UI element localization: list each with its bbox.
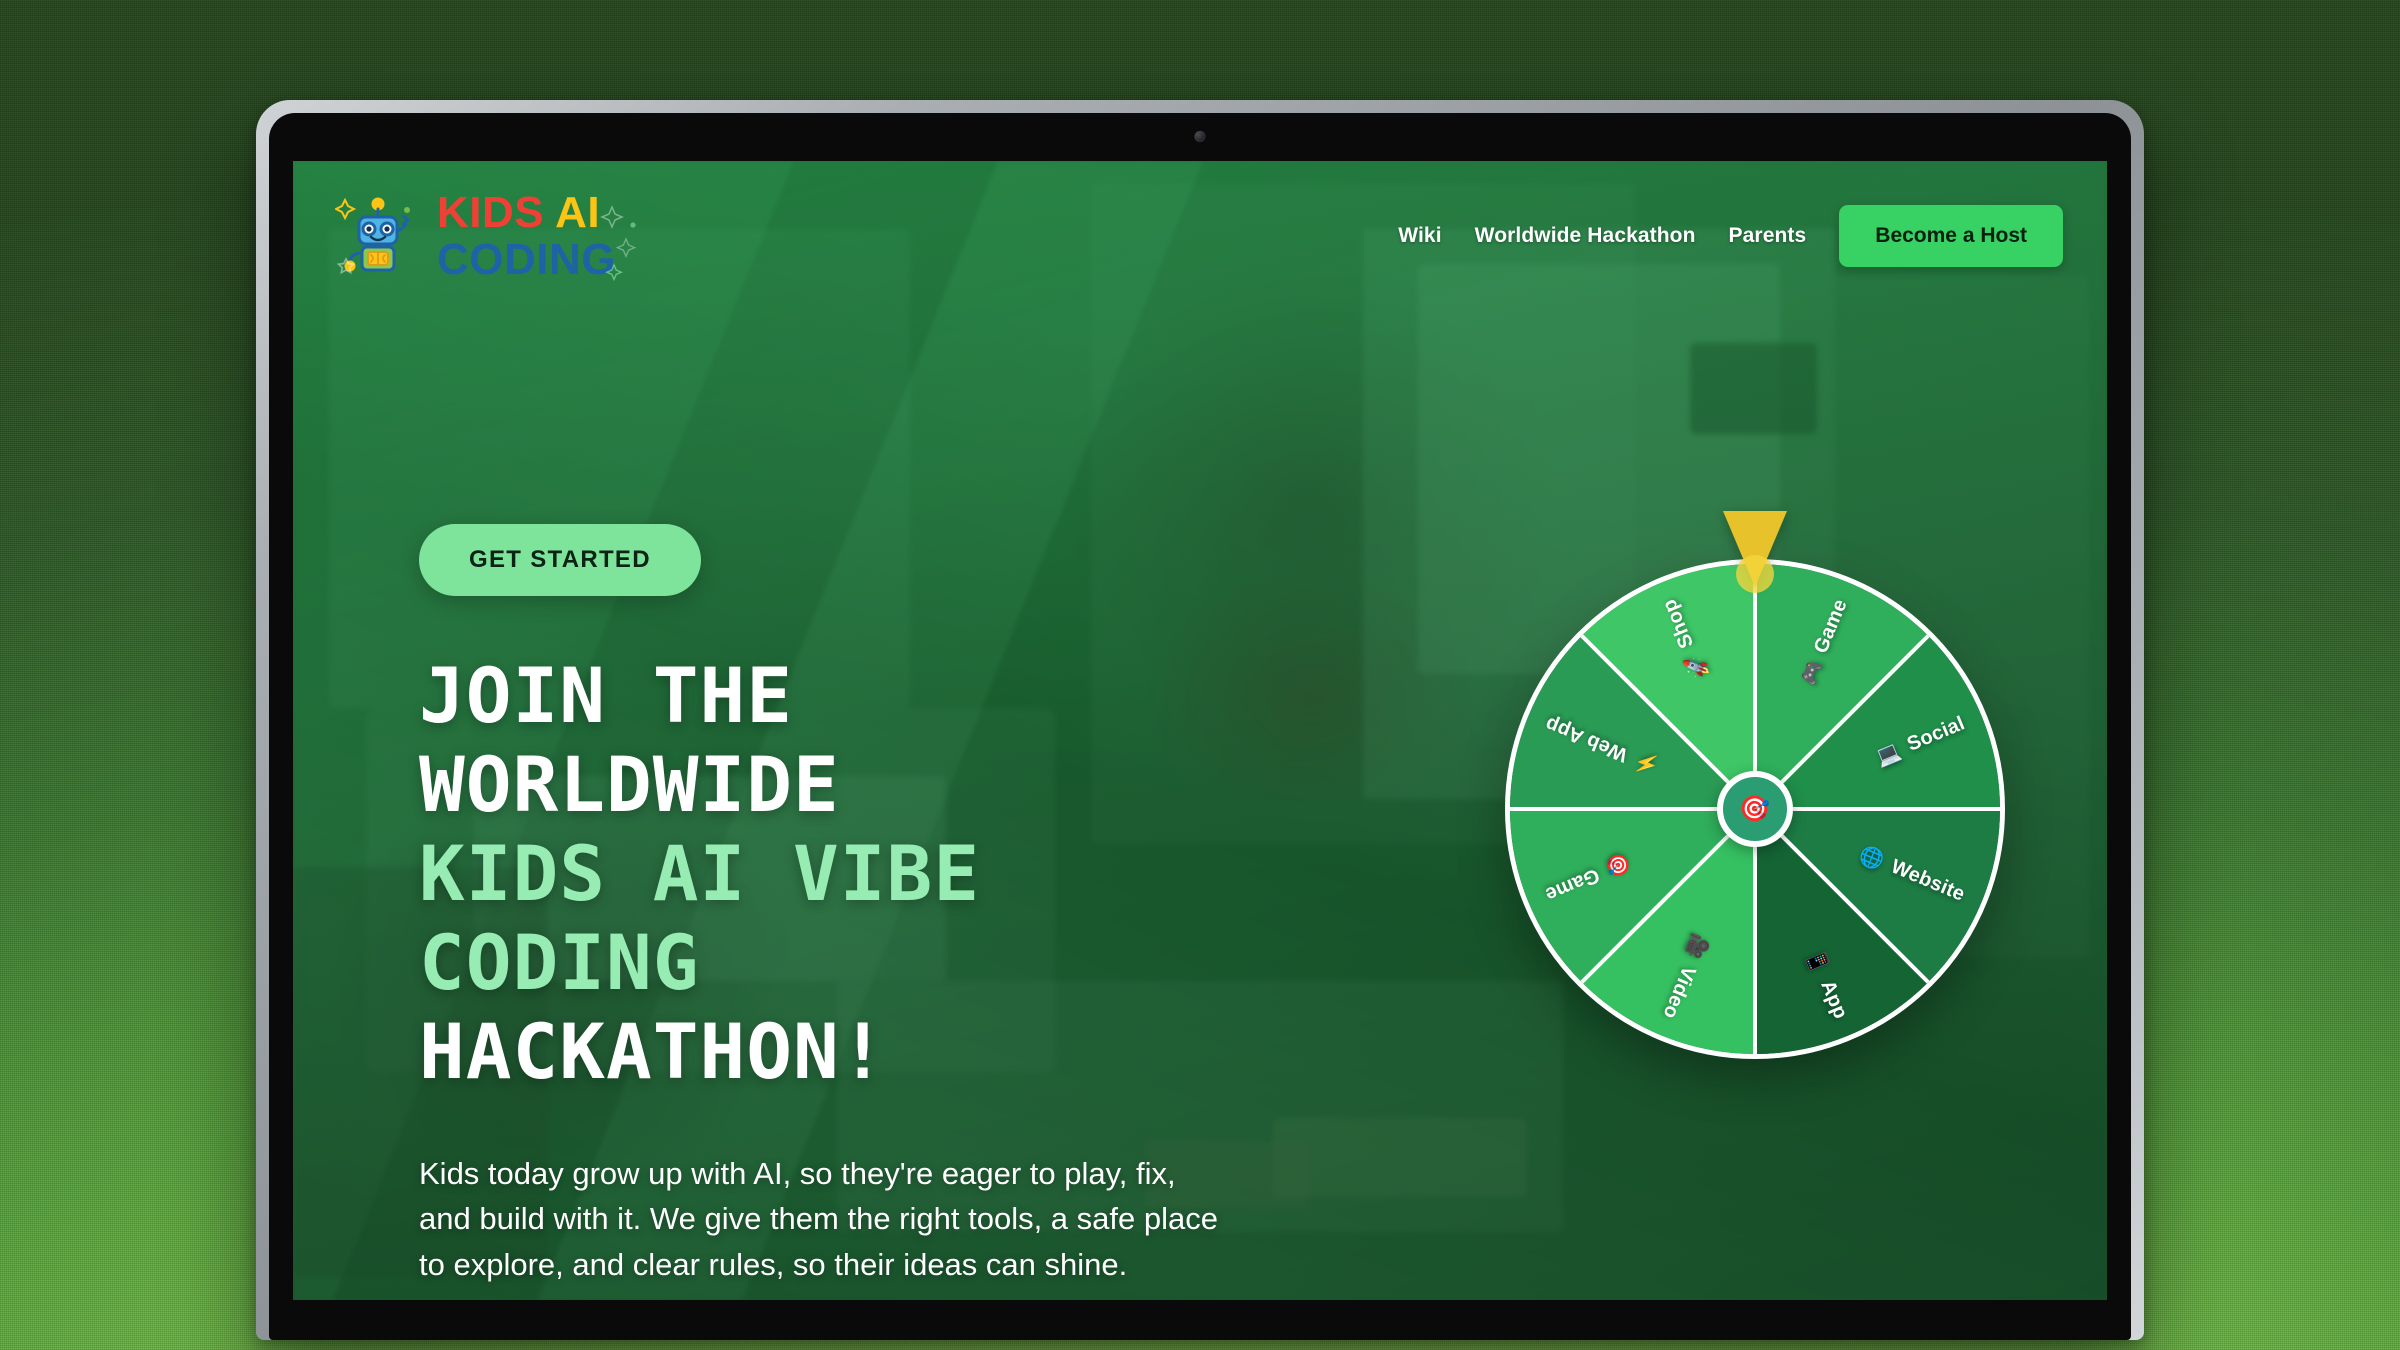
hero-copy-column: GET STARTED JOIN THE WORLDWIDE KIDS AI V…	[419, 524, 1339, 1287]
become-a-host-button[interactable]: Become a Host	[1839, 205, 2063, 267]
brand-ai: AI	[555, 188, 600, 237]
laptop-lid: KIDSAI CODING Wiki Worldw	[256, 100, 2144, 1340]
website-screen: KIDSAI CODING Wiki Worldw	[293, 161, 2107, 1300]
headline-line-5: HACKATHON!	[419, 1008, 1339, 1097]
robot-mascot-icon	[335, 191, 421, 282]
laptop-device-frame: KIDSAI CODING Wiki Worldw	[256, 100, 2144, 1350]
headline-line-2: WORLDWIDE	[419, 741, 1339, 830]
nav-link-wiki[interactable]: Wiki	[1398, 224, 1441, 248]
brand-coding: CODING	[437, 238, 616, 282]
prize-wheel[interactable]: 🎮Game💻Social🌐Website📱App🎥Video🎯Game⚡Web …	[1505, 529, 2005, 1029]
laptop-bezel: KIDSAI CODING Wiki Worldw	[269, 113, 2131, 1340]
hero-section: GET STARTED JOIN THE WORLDWIDE KIDS AI V…	[293, 161, 2107, 1300]
get-started-button[interactable]: GET STARTED	[419, 524, 701, 596]
brand-wordmark: KIDSAI CODING	[437, 191, 616, 282]
camera-dot-icon	[1195, 131, 1206, 142]
brand-kids: KIDS	[437, 188, 544, 237]
nav-link-worldwide-hackathon[interactable]: Worldwide Hackathon	[1475, 224, 1696, 248]
hero-headline: JOIN THE WORLDWIDE KIDS AI VIBE CODING H…	[419, 652, 1339, 1097]
headline-line-1: JOIN THE	[419, 652, 1339, 741]
site-header: KIDSAI CODING Wiki Worldw	[293, 161, 2107, 311]
wheel-hub[interactable]: 🎯	[1717, 771, 1793, 847]
header-nav: Wiki Worldwide Hackathon Parents Become …	[1398, 205, 2063, 267]
headline-line-3: KIDS AI VIBE	[419, 830, 1339, 919]
headline-line-4: CODING	[419, 919, 1339, 1008]
nav-link-parents[interactable]: Parents	[1729, 224, 1807, 248]
brand-logo[interactable]: KIDSAI CODING	[335, 191, 616, 282]
pointer-knob	[1736, 555, 1774, 593]
hero-paragraph: Kids today grow up with AI, so they're e…	[419, 1151, 1229, 1288]
